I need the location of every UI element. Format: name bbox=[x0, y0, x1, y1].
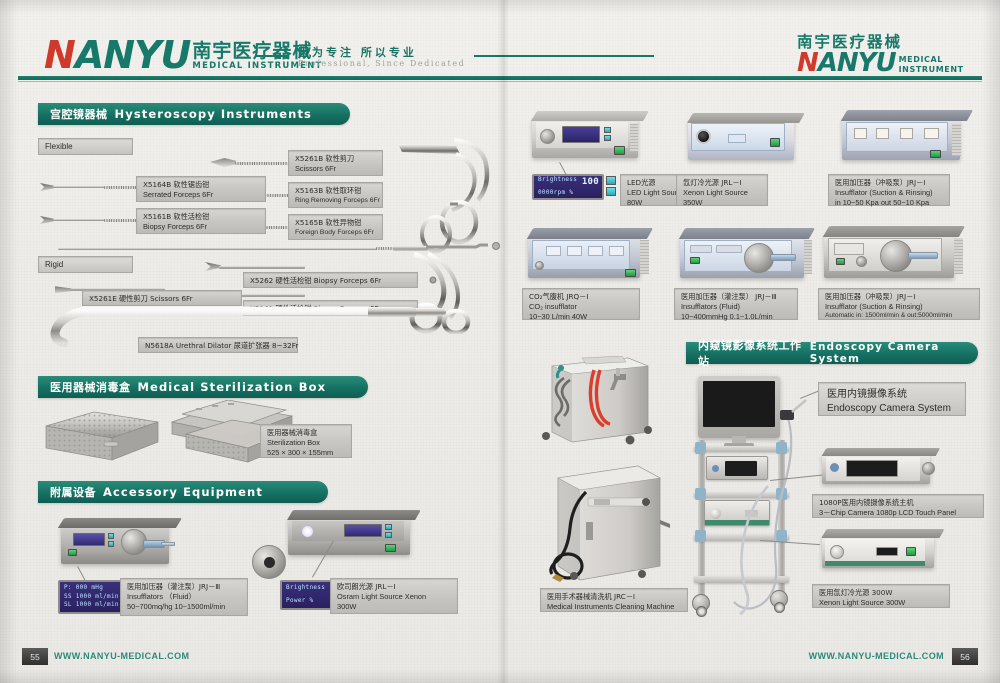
caption-co2-insufflator: CO₂气腹机 JRQ－Ⅰ CO₂ insufflator 10~30 L/min… bbox=[522, 288, 640, 320]
caption-serrated-forceps: X5164B 软性锯齿钳 Serrated Forceps 6Fr bbox=[136, 176, 266, 202]
section-tab-hysteroscopy-cn: 宫腔镜器械 bbox=[50, 106, 108, 122]
footer-url-right[interactable]: WWW.NANYU-MEDICAL.COM bbox=[809, 648, 944, 665]
device-art-cleaning-machine bbox=[534, 462, 670, 588]
device-art-xenon-light-source bbox=[684, 108, 806, 168]
caption-insufflator-suction-rinsing-2: 医用加压器（冲吸泵）JRJ－Ⅰ Insufflator (Suction & R… bbox=[818, 288, 980, 320]
caption-endoscopy-camera-system: 医用内镜摄像系统 Endoscopy Camera System bbox=[818, 382, 966, 416]
readout-led-light: Brightness 100 0000rpm % bbox=[532, 174, 604, 200]
device-art-xenon-300w bbox=[818, 528, 948, 576]
device-art-co2-insufflator bbox=[524, 224, 660, 286]
header-rule-thin bbox=[18, 81, 982, 82]
tagline-dash-left bbox=[255, 55, 289, 57]
cart-endoscope-cable bbox=[684, 376, 814, 620]
group-label-rigid: Rigid bbox=[38, 256, 133, 273]
device-art-endoscopy-cart bbox=[684, 376, 814, 620]
logo-right-sub2: INSTRUMENT bbox=[899, 65, 964, 75]
section-tab-camera-system: 内窥镜影像系统工作站 Endoscopy Camera System bbox=[686, 342, 978, 364]
cleaning-machine-svg bbox=[534, 462, 670, 588]
device-art-camera-host-1080p bbox=[818, 448, 946, 490]
tagline-dash-right bbox=[474, 55, 654, 57]
page-edge-shadow-left bbox=[0, 0, 18, 683]
section-tab-accessory-cn: 附属设备 bbox=[50, 484, 96, 500]
caption-camera-host-1080p: 1080P医用内镜摄像系统主机 3－Chip Camera 1080p LCD … bbox=[812, 494, 984, 518]
caption-urethral-dilator: N5618A Urethral Dilator 尿道扩张器 8~32Fr bbox=[138, 337, 298, 353]
logo-letters-anyu: ANYU bbox=[75, 33, 191, 77]
caption-osram-light-source: 欧司朗光源 JRL－Ⅰ Osram Light Source Xenon 300… bbox=[330, 578, 458, 614]
section-tab-accessory-en: Accessory Equipment bbox=[103, 485, 263, 499]
caption-insufflator-suction-rinsing-1: 医用加压器（冲吸泵）JRJ－Ⅰ Insufflator (Suction & R… bbox=[828, 174, 950, 206]
readout-btn-down-3[interactable] bbox=[606, 187, 616, 196]
section-tab-hysteroscopy: 宫腔镜器械 Hysteroscopy Instruments bbox=[38, 103, 350, 125]
caption-xenon-300w: 医用氙灯冷光源 300W Xenon Light Source 300W bbox=[812, 584, 950, 608]
caption-sterilization-box: 医用器械消毒盒 Sterilization Box 525 × 300 × 15… bbox=[260, 424, 352, 458]
device-art-led-light-source bbox=[528, 106, 648, 168]
page-edge-shadow-right bbox=[982, 0, 1000, 683]
page-number-left: 55 bbox=[22, 648, 48, 665]
caption-biopsy-forceps-flex: X5161B 软性活检钳 Biopsy Forceps 6Fr bbox=[136, 208, 266, 234]
tagline-block: 因为专注 所以专业 Professional, Since Dedicated bbox=[255, 44, 675, 68]
device-art-osram-light-source bbox=[282, 505, 422, 567]
caption-rigid-scissors: X5261E 硬性剪刀 Scissors 6Fr bbox=[82, 290, 242, 306]
device-art-insufflator-fluid-right bbox=[676, 224, 824, 286]
logo-letter-n: N bbox=[44, 33, 75, 77]
section-tab-sterilization-en: Medical Sterilization Box bbox=[138, 380, 327, 394]
page-gutter-shadow bbox=[497, 0, 509, 683]
section-tab-hysteroscopy-en: Hysteroscopy Instruments bbox=[115, 107, 313, 121]
caption-cleaning-machine: 医用手术器械清洗机 JRC－Ⅰ Medical Instruments Clea… bbox=[540, 588, 688, 612]
caption-scissors-flex: X5261B 软性剪刀 Scissors 6Fr bbox=[288, 150, 383, 176]
tagline-chinese: 因为专注 所以专业 bbox=[298, 44, 465, 60]
section-tab-accessory: 附属设备 Accessory Equipment bbox=[38, 481, 328, 503]
page-edge-shadow-bottom bbox=[0, 669, 1000, 683]
light-guide-port bbox=[264, 557, 275, 568]
section-tab-camera-en: Endoscopy Camera System bbox=[810, 341, 978, 365]
section-tab-sterilization-cn: 医用器械消毒盒 bbox=[50, 379, 131, 395]
footer-url-left[interactable]: WWW.NANYU-MEDICAL.COM bbox=[54, 648, 189, 665]
instrument-art-forceps-handle-large bbox=[396, 130, 506, 255]
caption-rigid-biopsy-1: X5262 硬性活检钳 Biopsy Forceps 6Fr bbox=[243, 272, 418, 288]
device-art-insufflator-suction-rinsing-1 bbox=[838, 104, 978, 170]
caption-xenon-light-source: 氙灯冷光源 JRL－Ⅰ Xenon Light Source 350W bbox=[676, 174, 768, 206]
caption-foreign-body-forceps: X5165B 软性异物钳 Foreign Body Forceps 6Fr bbox=[288, 214, 383, 240]
group-label-flexible: Flexible bbox=[38, 138, 133, 155]
logo-right-sub1: MEDICAL bbox=[899, 55, 964, 65]
section-tab-camera-cn: 内窥镜影像系统工作站 bbox=[698, 337, 803, 369]
caption-insufflator-fluid: 医用加压器（灌注泵）JRJ－Ⅲ Insufflators （Fluid） 50~… bbox=[120, 578, 248, 616]
device-art-insufflator-fluid bbox=[55, 512, 185, 574]
logo-right-letters: ANYU bbox=[818, 48, 896, 78]
sterilization-box-1-svg bbox=[42, 408, 162, 464]
cleaning-machine-top-svg bbox=[530, 356, 666, 464]
device-art-insufflator-suction-rinsing-2 bbox=[820, 222, 980, 286]
tagline-english: Professional, Since Dedicated bbox=[298, 59, 465, 68]
device-art-cleaning-machine-top bbox=[530, 356, 666, 464]
sterilization-box-closed-art bbox=[42, 408, 162, 464]
logo-right: 南宇医疗器械 NANYU MEDICAL INSTRUMENT bbox=[797, 34, 964, 76]
catalog-page-spread: NANYU 南宇医疗器械 MEDICAL INSTRUMENT 因为专注 所以专… bbox=[0, 0, 1000, 683]
readout-btn-up-3[interactable] bbox=[606, 176, 616, 185]
logo-right-letter-n: N bbox=[797, 48, 818, 78]
caption-ring-removing-forceps: X5163B 软性取环钳 Ring Removing Forceps 6Fr bbox=[288, 182, 383, 208]
forceps-handle-svg bbox=[396, 130, 506, 255]
page-number-right: 56 bbox=[952, 648, 978, 665]
caption-insufflator-fluid-right: 医用加压器（灌注泵） JRJ－Ⅲ Insufflators (Fluid) 10… bbox=[674, 288, 798, 320]
page-edge-shadow-top bbox=[0, 0, 1000, 14]
instrument-art-rigid-biopsy-1 bbox=[205, 262, 305, 272]
section-tab-sterilization: 医用器械消毒盒 Medical Sterilization Box bbox=[38, 376, 368, 398]
